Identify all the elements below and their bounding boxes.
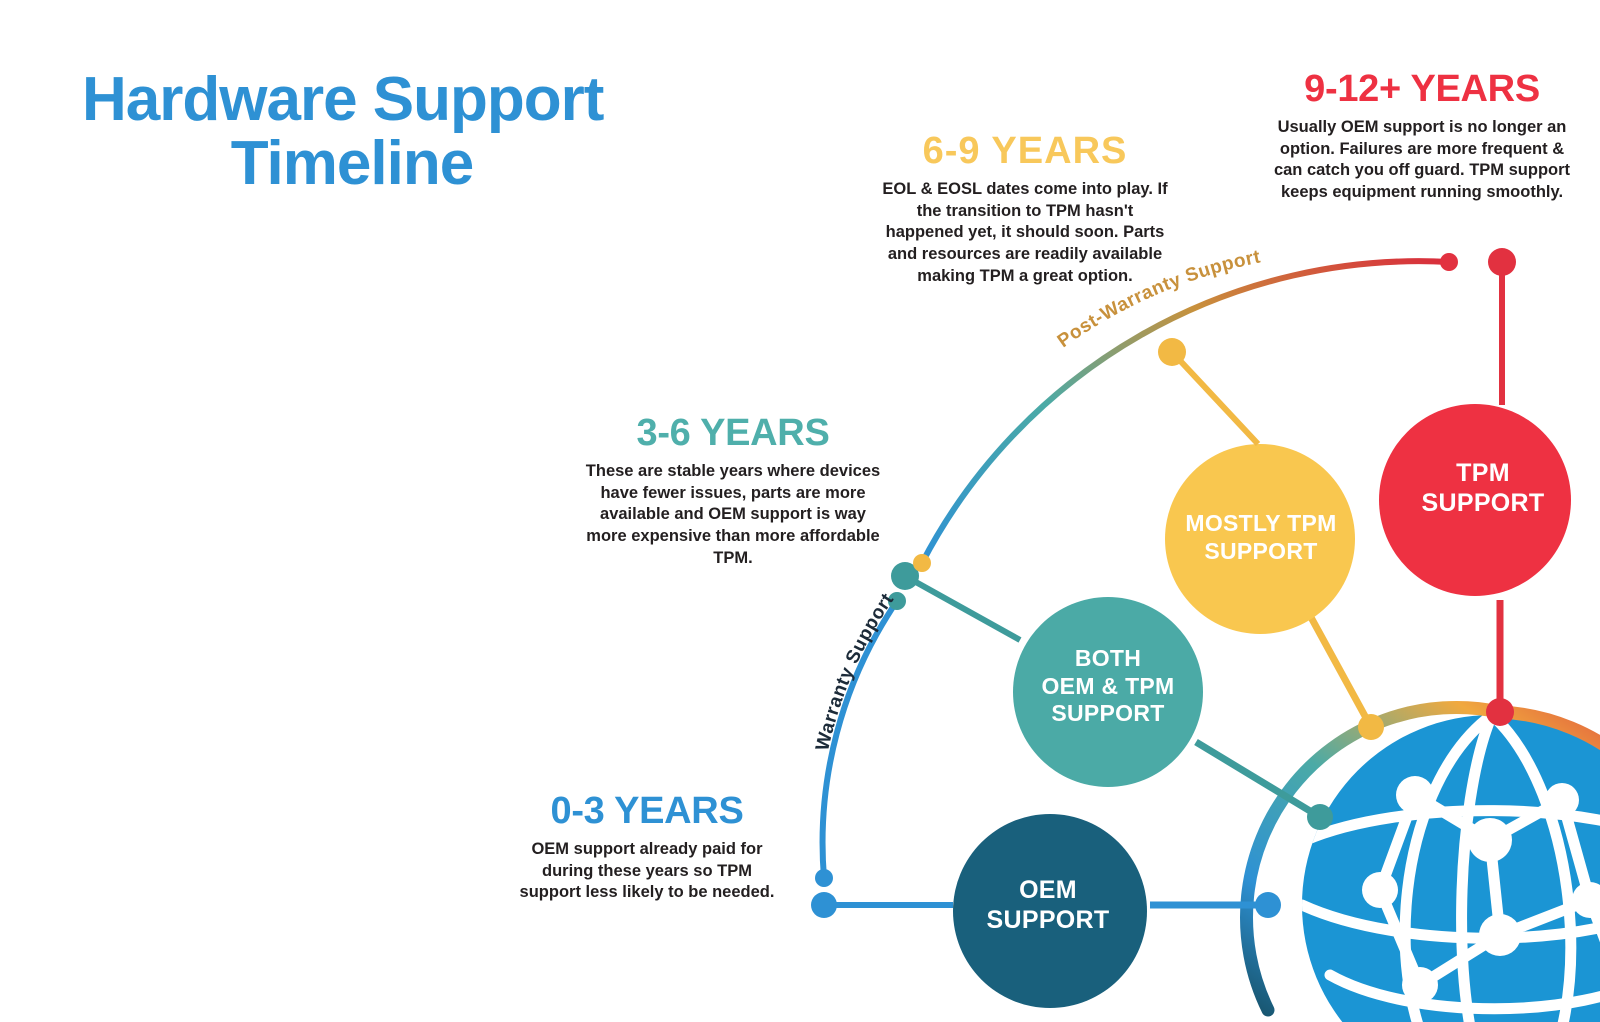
stage-block-6-9: 6-9 YEARS EOL & EOSL dates come into pla… bbox=[880, 132, 1170, 288]
arc-label-warranty-text: Warranty Support bbox=[812, 589, 898, 752]
ring-node-mostly bbox=[1358, 714, 1384, 740]
connector-mostly bbox=[1307, 610, 1371, 727]
network-globe-icon bbox=[1302, 715, 1600, 1022]
infographic-canvas: Hardware Support Timeline bbox=[0, 0, 1600, 1022]
bubble-both-support[interactable] bbox=[1013, 597, 1203, 787]
ring-node-both bbox=[1307, 804, 1333, 830]
stage-heading-9-12: 9-12+ YEARS bbox=[1272, 70, 1572, 110]
arc-label-warranty: Warranty Support bbox=[812, 589, 898, 752]
stage-body-6-9: EOL & EOSL dates come into play. If the … bbox=[880, 179, 1170, 288]
arc-end-dot-post-start bbox=[913, 554, 931, 572]
stem-mostly bbox=[1172, 352, 1258, 444]
stem-dot-oem bbox=[811, 892, 837, 918]
bubble-tpm-support[interactable] bbox=[1379, 404, 1571, 596]
arc-end-dot-post-end bbox=[1440, 253, 1458, 271]
stage-body-0-3: OEM support already paid for during thes… bbox=[516, 839, 778, 904]
stage-body-3-6: These are stable years where devices hav… bbox=[578, 461, 888, 570]
bubble-oem-support[interactable] bbox=[953, 814, 1147, 1008]
stage-block-0-3: 0-3 YEARS OEM support already paid for d… bbox=[516, 792, 778, 904]
arc-end-dot-warranty-start bbox=[815, 869, 833, 887]
stage-block-3-6: 3-6 YEARS These are stable years where d… bbox=[578, 414, 888, 570]
stage-body-9-12: Usually OEM support is no longer an opti… bbox=[1272, 117, 1572, 204]
stage-heading-0-3: 0-3 YEARS bbox=[516, 792, 778, 832]
ring-node-tpm bbox=[1486, 698, 1514, 726]
stage-block-9-12: 9-12+ YEARS Usually OEM support is no lo… bbox=[1272, 70, 1572, 204]
bubble-mostly-tpm-support[interactable] bbox=[1165, 444, 1355, 634]
stem-dot-tpm bbox=[1488, 248, 1516, 276]
stem-both bbox=[905, 576, 1020, 640]
stage-heading-3-6: 3-6 YEARS bbox=[578, 414, 888, 454]
stem-dot-mostly bbox=[1158, 338, 1186, 366]
stage-heading-6-9: 6-9 YEARS bbox=[880, 132, 1170, 172]
ring-node-oem bbox=[1255, 892, 1281, 918]
